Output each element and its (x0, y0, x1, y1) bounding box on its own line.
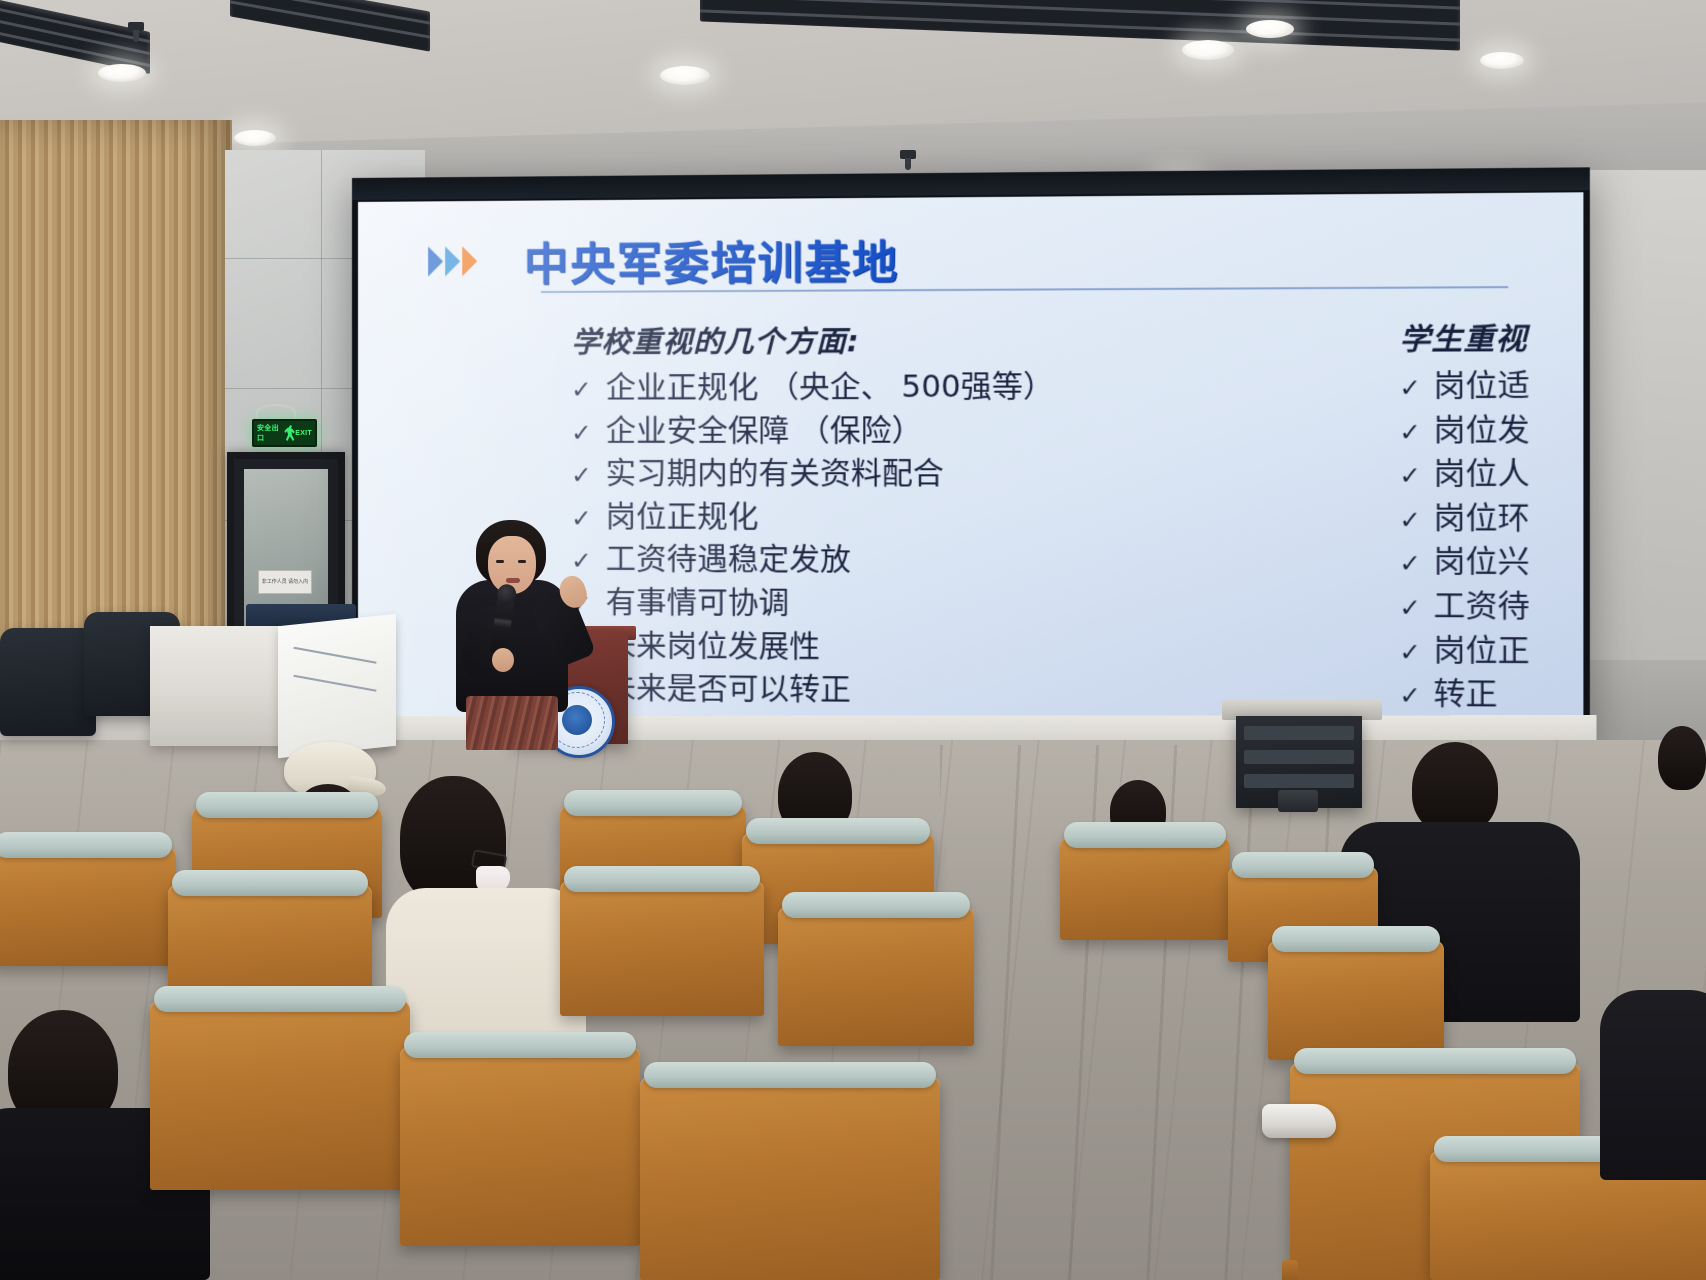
sprinkler-head (900, 150, 916, 159)
presenter (432, 520, 597, 750)
slide-title: 中央军委培训基地 (524, 226, 900, 293)
list-item-text: 岗位正 (1433, 629, 1529, 674)
wall-speaker (1278, 790, 1318, 812)
seat (150, 1000, 410, 1190)
list-item: ✓工资待 (1399, 585, 1583, 631)
presenter-skirt (466, 696, 558, 750)
running-man-icon (281, 424, 295, 442)
list-item-text: 实习期内的有关资料配合 (606, 453, 944, 496)
list-item: ✓岗位适 (1399, 364, 1583, 409)
ceiling-downlight (1246, 20, 1294, 38)
sprinkler-head (128, 22, 144, 31)
list-item-text: 未来岗位发展性 (606, 625, 820, 669)
ceiling-downlight (98, 64, 146, 82)
list-item: ✓有事情可协调 (571, 582, 1232, 628)
seat (778, 906, 974, 1046)
list-item-text: 有事情可协调 (606, 582, 790, 626)
list-item-text: 岗位正规化 (606, 496, 759, 539)
list-item: ✓企业正规化 （央企、 500强等） (571, 366, 1232, 411)
check-icon: ✓ (1399, 370, 1418, 405)
left-column-list: ✓企业正规化 （央企、 500强等） ✓企业安全保障 （保险） ✓实习期内的有关… (571, 366, 1232, 741)
check-icon: ✓ (571, 415, 589, 449)
exit-sign-label-cn: 安全出口 (257, 423, 281, 443)
list-item: ✓未来岗位发展性 (571, 625, 1232, 672)
list-item-text: 岗位环 (1433, 497, 1529, 541)
presenter-mouth (506, 578, 520, 583)
seat (1060, 836, 1230, 940)
slide-header: 中央军委培训基地 (428, 226, 899, 293)
list-item: ✓岗位环 (1399, 497, 1583, 542)
presenter-left-hand (492, 648, 514, 672)
check-icon: ✓ (1399, 546, 1418, 581)
seat (0, 846, 176, 966)
ceiling-downlight (1182, 40, 1234, 60)
chevron-icon (428, 246, 477, 276)
seat (1268, 940, 1444, 1060)
audience-head (1658, 726, 1706, 790)
list-item: ✓转正 (1399, 673, 1583, 720)
list-item-text: 岗位兴 (1433, 541, 1529, 585)
list-item: ✓未来是否可以转正 (571, 668, 1232, 716)
audience-shoulders (1600, 990, 1706, 1180)
right-column-list: ✓岗位适 ✓岗位发 ✓岗位人 ✓岗位环 ✓岗位兴 ✓工资待 ✓岗位正 ✓转正 (1399, 364, 1583, 719)
check-icon: ✓ (571, 372, 589, 406)
list-item: ✓实习期内的有关资料配合 (571, 453, 1232, 497)
list-item-text: 工资待 (1433, 585, 1529, 630)
list-item: ✓岗位人 (1399, 453, 1583, 497)
seat (640, 1076, 940, 1280)
slide-right-column: 学生重视 ✓岗位适 ✓岗位发 ✓岗位人 ✓岗位环 ✓岗位兴 ✓工资待 ✓岗位正 … (1399, 314, 1583, 720)
list-item: ✓工资待遇稳定发放 (571, 539, 1232, 584)
check-icon: ✓ (1399, 678, 1418, 713)
list-item-text: 未来是否可以转正 (606, 668, 851, 713)
list-item-text: 工资待遇稳定发放 (606, 539, 851, 583)
check-icon: ✓ (571, 458, 589, 492)
ceiling-downlight (1480, 52, 1524, 69)
list-item-text: 岗位发 (1433, 409, 1529, 453)
list-item: ✓岗位正规化 (571, 496, 1232, 541)
flipchart-board (278, 614, 396, 758)
executive-chair[interactable] (0, 628, 96, 736)
check-icon: ✓ (1399, 458, 1418, 493)
seat (560, 880, 764, 1016)
audience-head (1412, 742, 1498, 834)
ceiling-downlight (234, 130, 276, 146)
door-notice-sign: 非工作人员 请勿入内 (258, 570, 312, 594)
lecture-hall-photo: 安全出口 EXIT 非工作人员 请勿入内 中央军委培训基地 学校重视的几个方面:… (0, 0, 1706, 1280)
exit-sign: 安全出口 EXIT (252, 419, 317, 447)
check-icon: ✓ (1399, 502, 1418, 537)
presenter-eye-left (496, 560, 504, 563)
left-column-heading: 学校重视的几个方面: (571, 316, 1232, 361)
list-item-text: 岗位适 (1433, 365, 1529, 409)
audience-shoe (1262, 1104, 1336, 1138)
list-item: ✓岗位兴 (1399, 541, 1583, 586)
list-item-text: 企业正规化 （央企、 500强等） (606, 366, 1055, 410)
list-item-text: 企业安全保障 （保险） (606, 410, 923, 453)
list-item-text: 转正 (1433, 673, 1497, 718)
check-icon: ✓ (1399, 634, 1418, 669)
ceiling-downlight (660, 66, 710, 85)
list-item: ✓岗位正 (1399, 629, 1583, 675)
presenter-eye-right (518, 560, 526, 563)
list-item-text: 岗位人 (1433, 453, 1529, 497)
exit-sign-label-en: EXIT (295, 430, 312, 437)
check-icon: ✓ (1399, 590, 1418, 625)
list-item: ✓岗位发 (1399, 409, 1583, 453)
seat (400, 1046, 640, 1246)
wall-wood-slat (0, 120, 232, 680)
slide-left-column: 学校重视的几个方面: ✓企业正规化 （央企、 500强等） ✓企业安全保障 （保… (571, 316, 1232, 740)
right-column-heading: 学生重视 (1399, 314, 1583, 359)
check-icon: ✓ (1399, 414, 1418, 449)
list-item: ✓企业安全保障 （保险） (571, 409, 1232, 453)
